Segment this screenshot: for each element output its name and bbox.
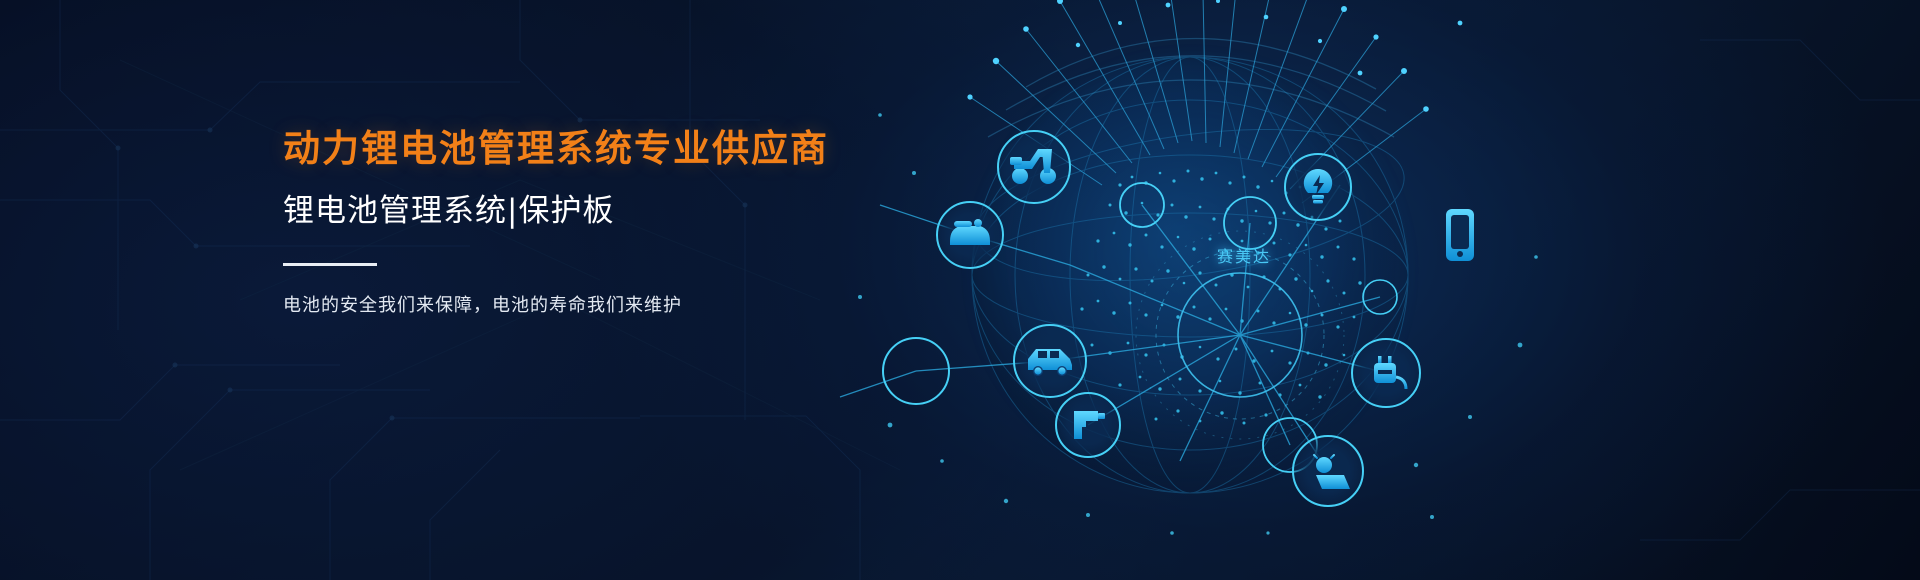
page-title: 动力锂电池管理系统专业供应商 <box>283 128 903 171</box>
node-power-drill <box>1056 393 1120 457</box>
node-desk-lamp <box>1293 436 1363 506</box>
node-car-side <box>1014 325 1086 397</box>
node-lightbulb <box>1285 154 1351 220</box>
node-charger-plug <box>1352 339 1420 407</box>
node-car-front <box>937 202 1003 268</box>
hero-subtitle: 锂电池管理系统|保护板 <box>283 193 903 230</box>
globe-svg <box>820 0 1580 580</box>
node-battery-phone <box>1446 209 1474 261</box>
globe-core-label: 赛美达 <box>1217 243 1271 267</box>
hero-tagline: 电池的安全我们来保障，电池的寿命我们来维护 <box>283 291 903 317</box>
network-globe-graphic: 赛美达 <box>820 0 1580 580</box>
node-scooter <box>998 131 1070 203</box>
title-divider <box>283 263 377 266</box>
hero-text-block: 动力锂电池管理系统专业供应商 锂电池管理系统|保护板 电池的安全我们来保障，电池… <box>283 128 903 317</box>
hero-banner: 动力锂电池管理系统专业供应商 锂电池管理系统|保护板 电池的安全我们来保障，电池… <box>0 0 1920 580</box>
